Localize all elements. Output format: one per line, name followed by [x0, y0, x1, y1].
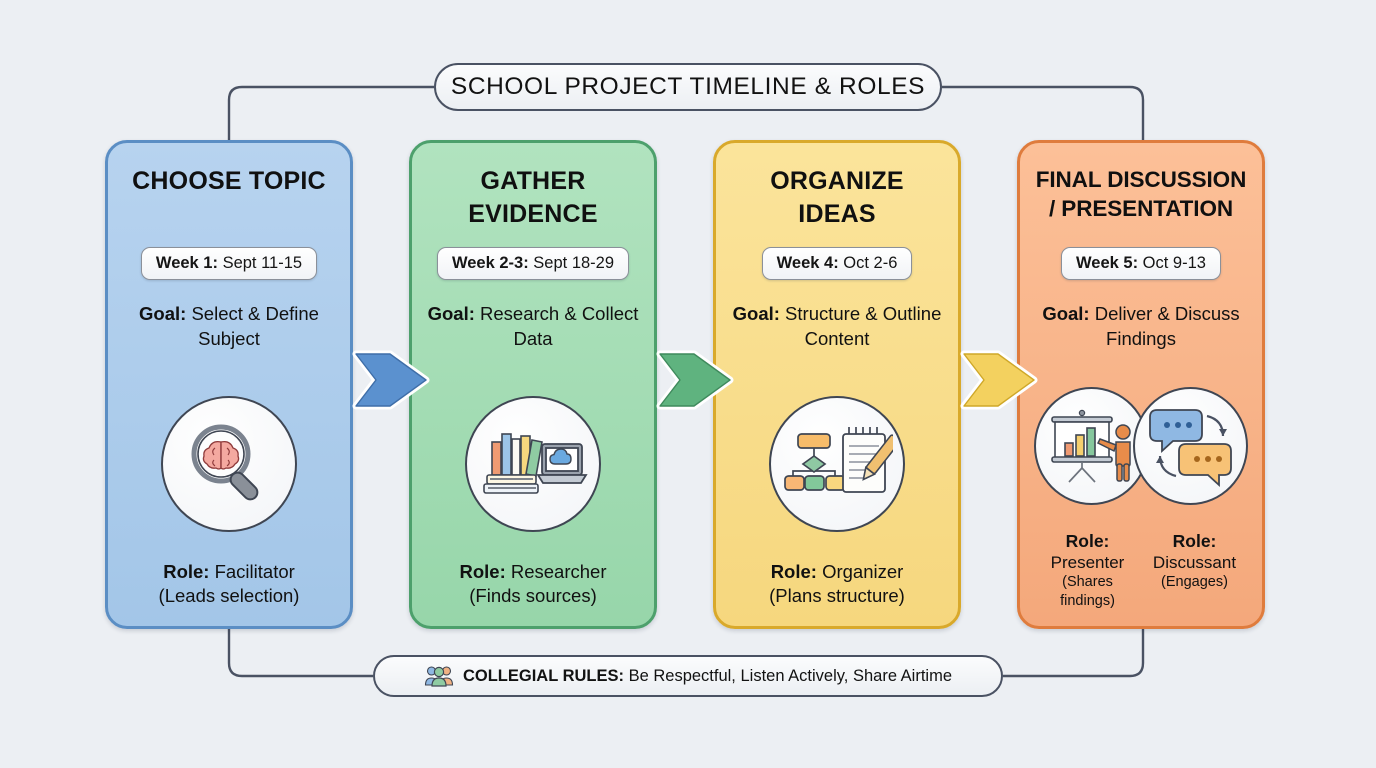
goal-text: Select & Define Subject — [186, 303, 319, 349]
role-label: Role: — [1141, 530, 1248, 552]
stage-icon-area — [1034, 361, 1248, 530]
role-name: Researcher — [506, 561, 607, 582]
arrow-gather-to-organize — [656, 338, 748, 422]
stage-goal: Goal: Structure & Outline Content — [730, 302, 944, 351]
speech-bubbles-exchange-icon — [1145, 402, 1237, 490]
collegial-rules-label: COLLEGIAL RULES: — [463, 667, 624, 685]
role-presenter: Role: Presenter (Shares findings) — [1034, 530, 1141, 610]
week-badge: Week 1: Sept 11-15 — [141, 247, 317, 280]
diagram-title: SCHOOL PROJECT TIMELINE & ROLES — [434, 63, 942, 111]
goal-text: Structure & Outline Content — [780, 303, 941, 349]
role-detail: (Plans structure) — [769, 585, 905, 606]
stage-goal: Goal: Deliver & Discuss Findings — [1034, 302, 1248, 351]
week-label: Week 1: — [156, 254, 218, 272]
stage-title: GATHER EVIDENCE — [426, 165, 640, 233]
role-detail: (Leads selection) — [159, 585, 300, 606]
week-label: Week 5: — [1076, 254, 1138, 272]
collegial-rules-items: Be Respectful, Listen Actively, Share Ai… — [624, 667, 952, 685]
role-name: Facilitator — [209, 561, 294, 582]
collegial-rules-text: COLLEGIAL RULES: Be Respectful, Listen A… — [463, 667, 952, 686]
arrow-organize-to-final — [960, 338, 1052, 422]
role-label: Role: — [1034, 530, 1141, 552]
stage-icon-area — [730, 367, 944, 560]
diagram-title-text: SCHOOL PROJECT TIMELINE & ROLES — [451, 73, 925, 101]
stage-title: CHOOSE TOPIC — [132, 165, 326, 233]
stage-goal: Goal: Research & Collect Data — [426, 302, 640, 351]
diagram-canvas: SCHOOL PROJECT TIMELINE & ROLES CHOOSE T… — [0, 0, 1376, 768]
role-detail: (Engages) — [1141, 573, 1248, 591]
goal-label: Goal: — [428, 303, 475, 324]
stage-card-choose-topic[interactable]: CHOOSE TOPIC Week 1: Sept 11-15 Goal: Se… — [105, 140, 353, 629]
icon-circle — [465, 396, 601, 532]
week-badge: Week 5: Oct 9-13 — [1061, 247, 1221, 280]
stage-title: ORGANIZE IDEAS — [730, 165, 944, 233]
role-name: Organizer — [817, 561, 903, 582]
stage-role: Role: Researcher (Finds sources) — [459, 560, 606, 608]
magnifier-brain-icon — [177, 412, 281, 516]
role-label: Role: — [771, 561, 817, 582]
stage-card-organize-ideas[interactable]: ORGANIZE IDEAS Week 4: Oct 2-6 Goal: Str… — [713, 140, 961, 629]
books-laptop-cloud-icon — [478, 412, 588, 516]
week-dates: Sept 11-15 — [218, 254, 302, 272]
stage-roles-dual: Role: Presenter (Shares findings) Role: … — [1034, 530, 1248, 610]
stage-icon-area — [122, 367, 336, 560]
week-dates: Sept 18-29 — [529, 254, 614, 272]
week-label: Week 4: — [777, 254, 839, 272]
role-discussant: Role: Discussant (Engages) — [1141, 530, 1248, 610]
people-group-icon — [424, 664, 454, 688]
goal-text: Research & Collect Data — [475, 303, 638, 349]
role-name: Presenter — [1034, 552, 1141, 573]
goal-label: Goal: — [1042, 303, 1089, 324]
stage-goal: Goal: Select & Define Subject — [122, 302, 336, 351]
icon-circle — [769, 396, 905, 532]
collegial-rules-bar: COLLEGIAL RULES: Be Respectful, Listen A… — [373, 655, 1003, 697]
role-label: Role: — [163, 561, 209, 582]
icon-circle-discussant — [1133, 387, 1248, 505]
week-badge: Week 4: Oct 2-6 — [762, 247, 913, 280]
stage-card-gather-evidence[interactable]: GATHER EVIDENCE Week 2-3: Sept 18-29 Goa… — [409, 140, 657, 629]
week-dates: Oct 9-13 — [1138, 254, 1206, 272]
goal-label: Goal: — [733, 303, 780, 324]
presentation-chart-person-icon — [1044, 400, 1140, 492]
role-detail: (Shares findings) — [1034, 573, 1141, 610]
icon-circle — [161, 396, 297, 532]
stage-role: Role: Facilitator (Leads selection) — [159, 560, 300, 608]
role-detail: (Finds sources) — [469, 585, 596, 606]
goal-label: Goal: — [139, 303, 186, 324]
arrow-choose-to-gather — [352, 338, 444, 422]
week-label: Week 2-3: — [452, 254, 529, 272]
role-name: Discussant — [1141, 552, 1248, 573]
goal-text: Deliver & Discuss Findings — [1090, 303, 1240, 349]
week-badge: Week 2-3: Sept 18-29 — [437, 247, 629, 280]
flowchart-notepad-pencil-icon — [781, 412, 893, 516]
stage-role: Role: Organizer (Plans structure) — [769, 560, 905, 608]
week-dates: Oct 2-6 — [839, 254, 898, 272]
stage-icon-area — [426, 367, 640, 560]
stage-title: FINAL DISCUSSION / PRESENTATION — [1034, 165, 1248, 233]
role-label: Role: — [459, 561, 505, 582]
stage-card-final-discussion[interactable]: FINAL DISCUSSION / PRESENTATION Week 5: … — [1017, 140, 1265, 629]
